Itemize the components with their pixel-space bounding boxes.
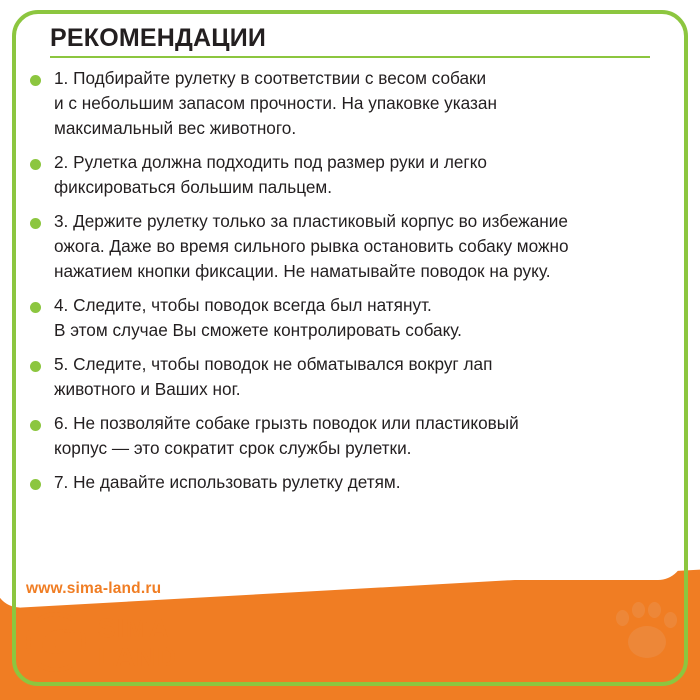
list-item-text: 6. Не позволяйте собаке грызть поводок и…: [54, 411, 666, 461]
logo-text-line1: SIMA: [98, 614, 177, 643]
list-item: 3. Держите рулетку только за пластиковый…: [26, 209, 666, 284]
title-divider: [50, 56, 650, 58]
list-item: 5. Следите, чтобы поводок не обматывался…: [26, 352, 666, 402]
list-item-text: 4. Следите, чтобы поводок всегда был нат…: [54, 293, 666, 343]
bullet-icon: [30, 302, 41, 313]
list-item-text: 3. Держите рулетку только за пластиковый…: [54, 209, 666, 284]
list-item: 7. Не давайте использовать рулетку детям…: [26, 470, 666, 495]
package-label-page: РЕКОМЕНДАЦИИ 1. Подбирайте рулетку в соо…: [0, 0, 700, 700]
dolphin-logo-icon: [26, 612, 86, 672]
list-item: 6. Не позволяйте собаке грызть поводок и…: [26, 411, 666, 461]
list-item-text: 5. Следите, чтобы поводок не обматывался…: [54, 352, 666, 402]
bullet-icon: [30, 361, 41, 372]
list-item: 4. Следите, чтобы поводок всегда был нат…: [26, 293, 666, 343]
bullet-icon: [30, 479, 41, 490]
list-item-text: 7. Не давайте использовать рулетку детям…: [54, 470, 666, 495]
list-item-text: 1. Подбирайте рулетку в соответствии с в…: [54, 66, 666, 141]
recommendations-list: 1. Подбирайте рулетку в соответствии с в…: [26, 66, 666, 504]
sima-land-logo: SIMA LAND: [26, 608, 241, 680]
website-url: www.sima-land.ru: [26, 580, 161, 598]
bullet-icon: [30, 159, 41, 170]
logo-text-line2: LAND: [98, 643, 177, 672]
bullet-icon: [30, 75, 41, 86]
list-item: 1. Подбирайте рулетку в соответствии с в…: [26, 66, 666, 141]
list-item-text: 2. Рулетка должна подходить под размер р…: [54, 150, 666, 200]
bullet-icon: [30, 420, 41, 431]
logo-text: SIMA LAND: [98, 614, 177, 672]
list-item: 2. Рулетка должна подходить под размер р…: [26, 150, 666, 200]
content-area: РЕКОМЕНДАЦИИ 1. Подбирайте рулетку в соо…: [0, 0, 700, 700]
page-title: РЕКОМЕНДАЦИИ: [50, 24, 266, 53]
bullet-icon: [30, 218, 41, 229]
